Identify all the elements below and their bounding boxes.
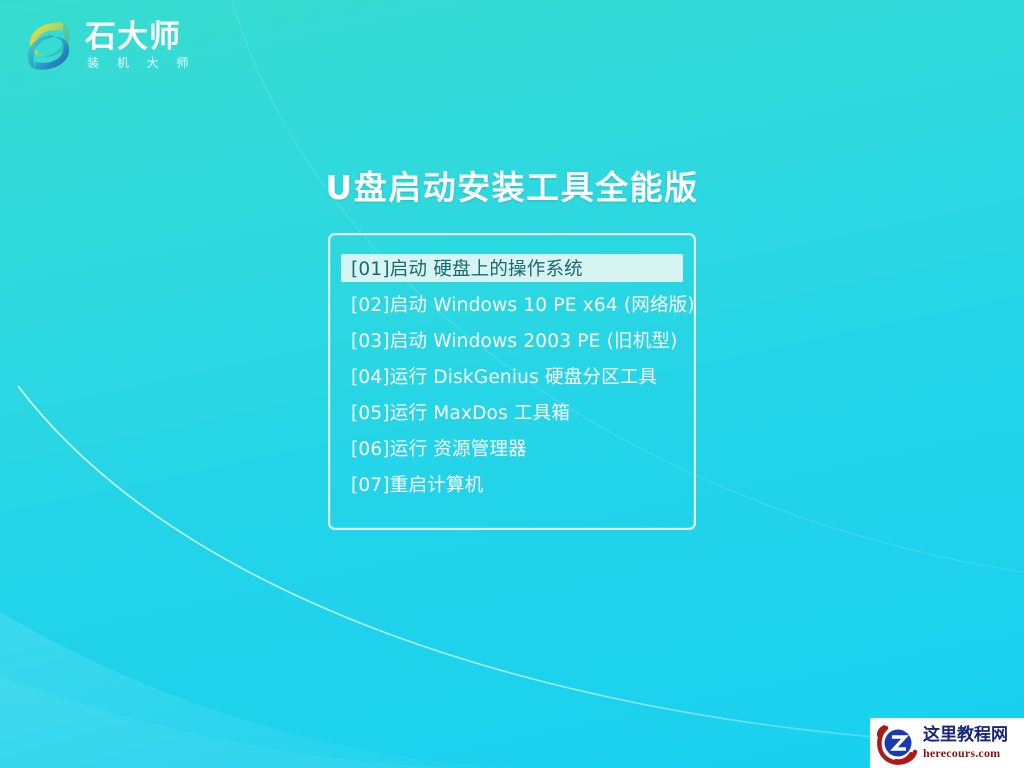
brand-subtitle: 装 机 大 师 [85, 54, 195, 73]
watermark: 这里教程网 herecours.com [870, 718, 1024, 768]
menu-item-03[interactable]: [03]启动 Windows 2003 PE (旧机型) [330, 326, 694, 354]
boot-menu-screen: 石大师 装 机 大 师 U盘启动安装工具全能版 [01]启动 硬盘上的操作系统 … [0, 0, 1024, 768]
watermark-site-url: herecours.com [923, 746, 1008, 760]
menu-item-04[interactable]: [04]运行 DiskGenius 硬盘分区工具 [330, 362, 694, 390]
z-circle-orbit-logo-icon [875, 721, 919, 765]
page-title: U盘启动安装工具全能版 [0, 161, 1024, 209]
brand-logo: 石大师 装 机 大 师 [22, 16, 195, 76]
brand-name: 石大师 [85, 21, 195, 54]
brand-text: 石大师 装 机 大 师 [85, 19, 195, 73]
watermark-text: 这里教程网 herecours.com [923, 726, 1008, 760]
menu-item-02[interactable]: [02]启动 Windows 10 PE x64 (网络版) [330, 290, 694, 318]
stone-master-swirl-logo-icon [22, 16, 76, 76]
boot-menu-panel: [01]启动 硬盘上的操作系统 [02]启动 Windows 10 PE x64… [328, 233, 696, 530]
menu-item-06[interactable]: [06]运行 资源管理器 [330, 434, 694, 462]
menu-item-07[interactable]: [07]重启计算机 [330, 470, 694, 498]
watermark-site-name: 这里教程网 [923, 726, 1008, 746]
menu-item-01[interactable]: [01]启动 硬盘上的操作系统 [341, 254, 683, 282]
menu-item-05[interactable]: [05]运行 MaxDos 工具箱 [330, 398, 694, 426]
